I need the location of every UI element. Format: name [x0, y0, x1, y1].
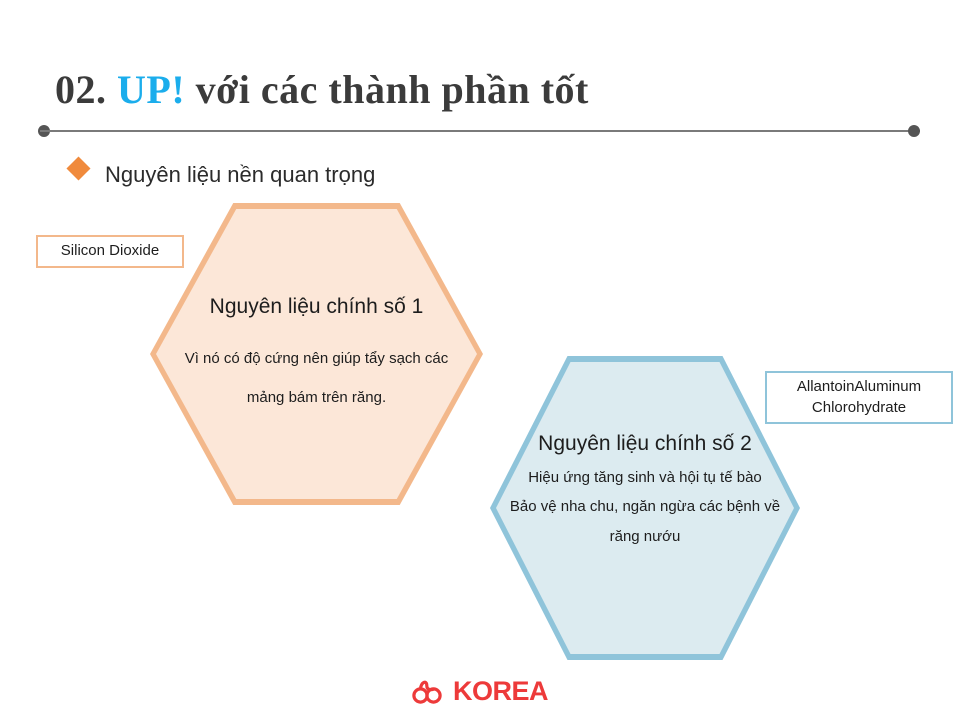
title-number: 02.: [55, 67, 107, 112]
hexagon-2-heading: Nguyên liệu chính số 2: [495, 432, 795, 456]
slide-canvas: 02. UP! với các thành phần tốt Nguyên li…: [0, 0, 960, 720]
title-highlight: UP!: [117, 67, 185, 112]
hexagon-1-body: Vì nó có độ cứng nên giúp tẩy sạch các m…: [160, 339, 473, 417]
label-silicon-dioxide: Silicon Dioxide: [36, 235, 184, 268]
hexagon-2-body-line: răng nướu: [495, 522, 795, 551]
subtitle-text: Nguyên liệu nền quan trọng: [105, 162, 375, 188]
title-rest: với các thành phần tốt: [196, 67, 589, 112]
hexagon-2-body: Hiệu ứng tăng sinh và hội tụ tế bào Bảo …: [495, 463, 795, 551]
hexagon-1-body-line: Vì nó có độ cứng nên giúp tẩy sạch các: [160, 339, 473, 378]
hexagon-2-body-line: Hiệu ứng tăng sinh và hội tụ tế bào: [495, 463, 795, 492]
hexagon-1-content: Nguyên liệu chính số 1 Vì nó có độ cứng …: [160, 295, 473, 417]
divider-dot-right: [908, 125, 920, 137]
hexagon-1-body-line: mảng bám trên răng.: [160, 378, 473, 417]
brand-logo: KOREA: [0, 678, 960, 709]
brand-wordmark: KOREA: [453, 678, 548, 705]
diamond-bullet-icon: [66, 156, 90, 180]
page-title: 02. UP! với các thành phần tốt: [55, 66, 589, 113]
divider-line: [40, 130, 920, 132]
hexagon-2-content: Nguyên liệu chính số 2 Hiệu ứng tăng sin…: [495, 432, 795, 551]
88-loops-logo-icon: [412, 678, 452, 709]
hexagon-2-body-line: Bảo vệ nha chu, ngăn ngừa các bệnh về: [495, 492, 795, 521]
hexagon-1-heading: Nguyên liệu chính số 1: [160, 295, 473, 319]
label-allantoin-aluminum-chlorohydrate: AllantoinAluminum Chlorohydrate: [765, 371, 953, 424]
